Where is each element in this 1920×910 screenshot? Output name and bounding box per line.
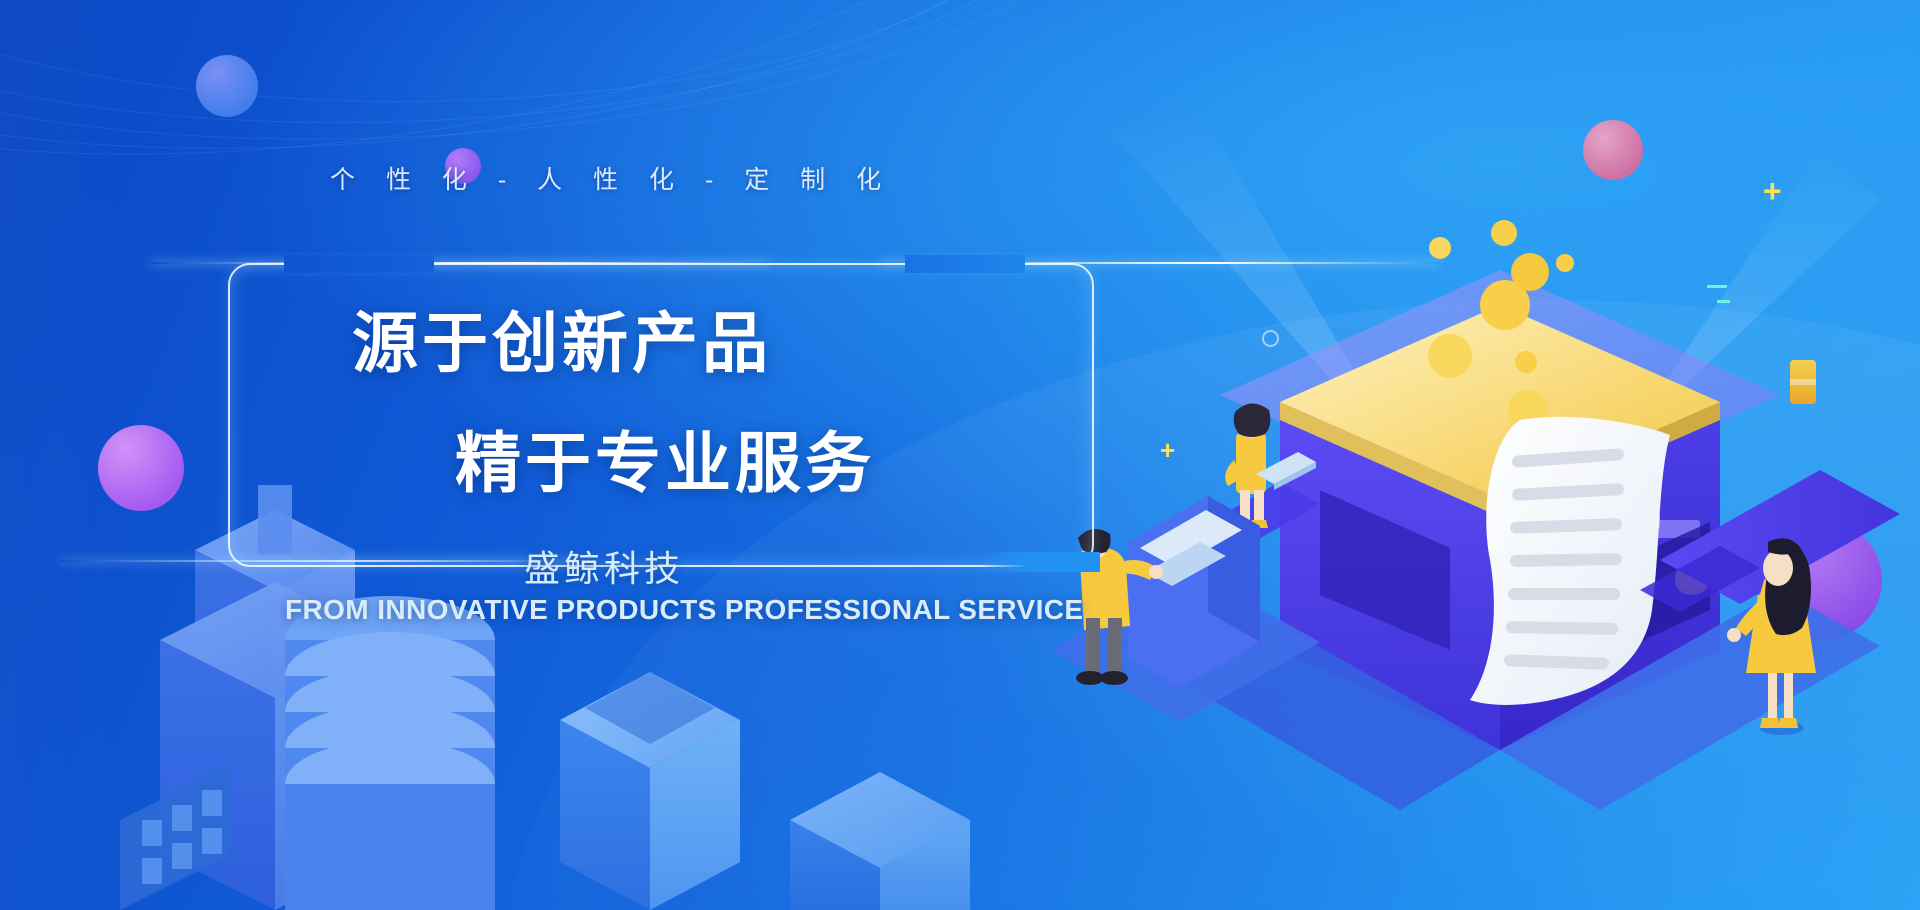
plus-decoration-icon: +: [1160, 437, 1175, 463]
frame-gap-left: [284, 255, 434, 273]
plus-decoration-icon-2: +: [1763, 175, 1782, 207]
frame-gap-bottom: [980, 552, 1100, 572]
isometric-printer-illustration: [1020, 90, 1920, 910]
headline-line-2: 精于专业服务: [455, 410, 875, 506]
headline-line-1: 源于创新产品: [352, 290, 772, 386]
banner-text-content: 个 性 化 - 人 性 化 - 定 制 化 源于创新产品 精于专业服务 盛鲸科技…: [0, 0, 1100, 910]
dash-decoration-icon-2: [1717, 300, 1730, 303]
promo-banner: + + 个 性 化 - 人 性 化 - 定 制 化 源于创新产品 精于专业服务 …: [0, 0, 1920, 910]
dash-decoration-icon: [1707, 285, 1727, 288]
ring-decoration-icon: [1262, 330, 1279, 347]
company-name: 盛鲸科技: [524, 540, 684, 592]
gold-capsule-icon: [1790, 360, 1816, 404]
tagline: 个 性 化 - 人 性 化 - 定 制 化: [330, 160, 893, 196]
frame-gap-right: [905, 255, 1025, 273]
english-subtitle: FROM INNOVATIVE PRODUCTS PROFESSIONAL SE…: [285, 594, 1083, 626]
